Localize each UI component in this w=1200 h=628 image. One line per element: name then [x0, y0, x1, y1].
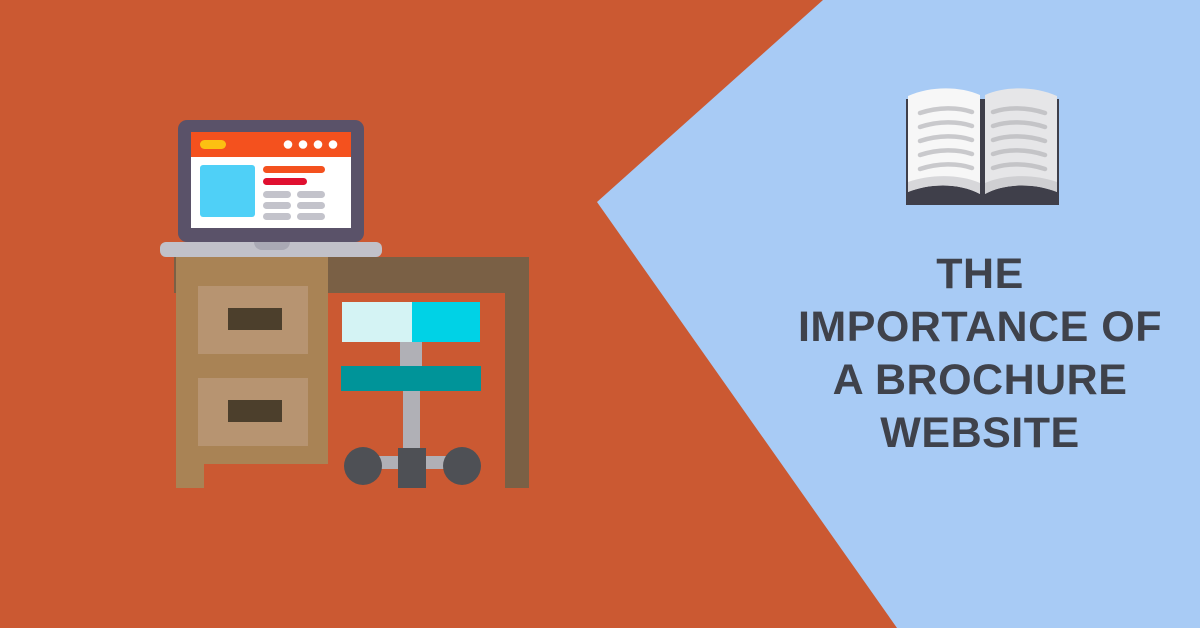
- office-chair-icon: [341, 302, 481, 488]
- chair-backrest-cyan: [412, 302, 480, 342]
- browser-dot: [329, 140, 338, 149]
- browser-dot: [314, 140, 323, 149]
- drawer-handle-bottom: [228, 400, 282, 422]
- laptop-icon: [160, 120, 382, 257]
- chair-wheel-right: [443, 447, 481, 485]
- laptop-trackpad-notch: [254, 242, 290, 250]
- desk-illustration-svg: [160, 110, 550, 500]
- open-book-icon: [900, 82, 1065, 222]
- desk-cabinet-leg: [176, 464, 204, 488]
- browser-text-line: [297, 191, 325, 198]
- drawer-handle-top: [228, 308, 282, 330]
- browser-text-line: [263, 213, 291, 220]
- open-book-svg: [900, 82, 1065, 222]
- poster-canvas: THE IMPORTANCE OF A BROCHURE WEBSITE: [0, 0, 1200, 628]
- browser-dot: [284, 140, 293, 149]
- browser-dot: [299, 140, 308, 149]
- chair-wheel-left: [344, 447, 382, 485]
- browser-headline-bar: [263, 166, 325, 173]
- desk-illustration: [160, 110, 550, 500]
- right-content-panel: THE IMPORTANCE OF A BROCHURE WEBSITE: [760, 0, 1200, 628]
- browser-subhead-bar: [263, 178, 307, 185]
- browser-text-line: [263, 191, 291, 198]
- page-title: THE IMPORTANCE OF A BROCHURE WEBSITE: [760, 248, 1200, 460]
- browser-text-line: [263, 202, 291, 209]
- chair-pole-upper: [400, 342, 422, 366]
- chair-seat: [341, 366, 481, 391]
- browser-hero-image: [200, 165, 255, 217]
- headline-line-2: IMPORTANCE OF: [760, 301, 1200, 354]
- browser-tab: [200, 140, 226, 149]
- chair-wheel-hub: [398, 448, 426, 488]
- desk-right-leg: [505, 293, 529, 488]
- headline-line-1: THE: [760, 248, 1200, 301]
- browser-text-line: [297, 202, 325, 209]
- headline-line-3: A BROCHURE: [760, 354, 1200, 407]
- chair-backrest-light: [342, 302, 412, 342]
- browser-text-line: [297, 213, 325, 220]
- headline-line-4: WEBSITE: [760, 407, 1200, 460]
